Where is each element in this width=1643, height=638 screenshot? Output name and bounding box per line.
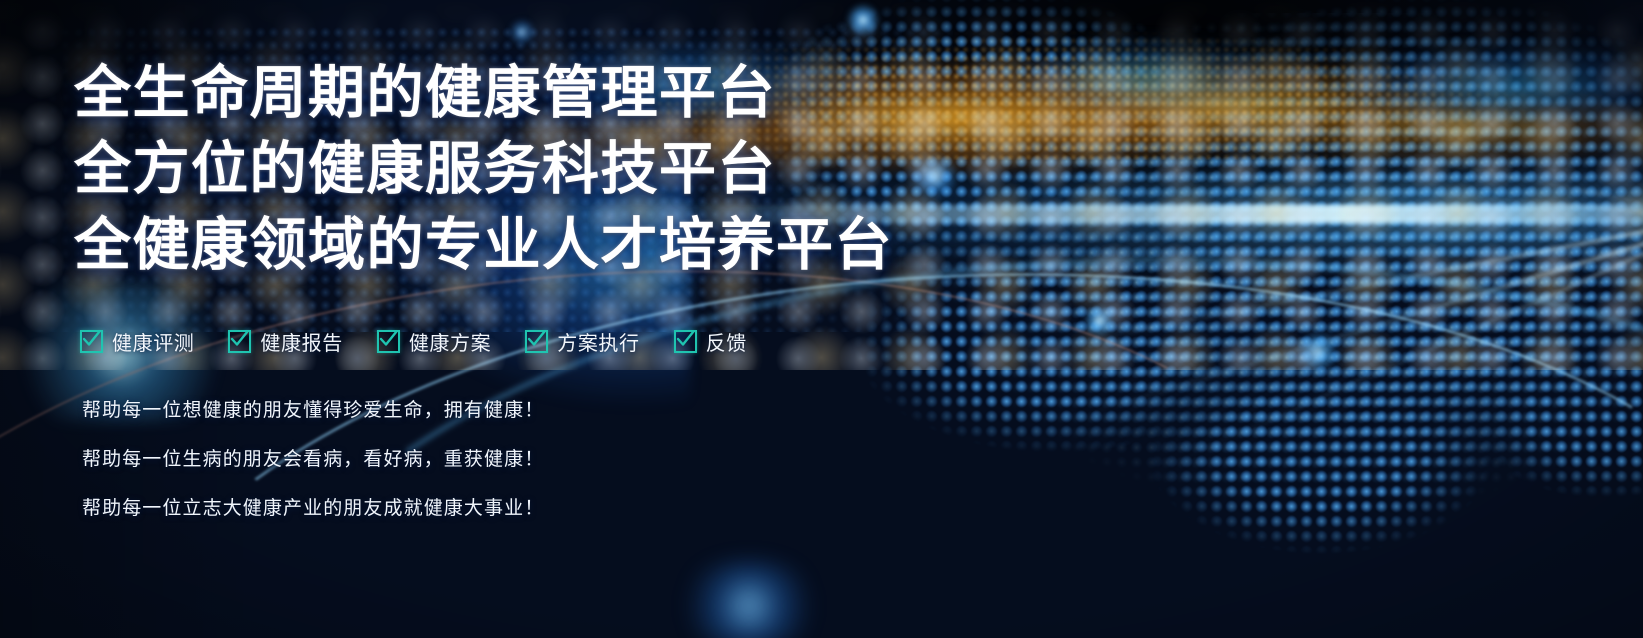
glow-dot xyxy=(1084,306,1114,336)
process-step-item[interactable]: 健康方案 xyxy=(377,327,491,356)
process-step-label: 方案执行 xyxy=(557,327,639,356)
page-title: 全生命周期的健康管理平台 全方位的健康服务科技平台 全健康领域的专业人才培养平台 xyxy=(74,56,974,283)
tagline-item: 帮助每一位立志大健康产业的朋友成就健康大事业！ xyxy=(82,499,974,518)
checkbox-checked-icon[interactable] xyxy=(525,330,548,353)
headline-line-3: 全健康领域的专业人才培养平台 xyxy=(74,208,974,284)
process-step-label: 反馈 xyxy=(706,327,747,356)
headline-line-1: 全生命周期的健康管理平台 xyxy=(74,56,974,132)
headline-line-2: 全方位的健康服务科技平台 xyxy=(74,132,974,208)
process-step-item[interactable]: 反馈 xyxy=(674,327,747,356)
glow-dot xyxy=(674,561,824,638)
process-step-label: 健康评测 xyxy=(112,327,194,356)
light-ray xyxy=(1180,238,1643,461)
checkbox-checked-icon[interactable] xyxy=(377,330,400,353)
process-step-item[interactable]: 方案执行 xyxy=(525,327,639,356)
light-ray xyxy=(1256,127,1643,210)
tagline-item: 帮助每一位想健康的朋友懂得珍爱生命，拥有健康！ xyxy=(82,401,974,420)
hero-content: 全生命周期的健康管理平台 全方位的健康服务科技平台 全健康领域的专业人才培养平台… xyxy=(0,0,974,518)
tagline-list: 帮助每一位想健康的朋友懂得珍爱生命，拥有健康！ 帮助每一位生病的朋友会看病，看好… xyxy=(82,401,974,518)
checkbox-checked-icon[interactable] xyxy=(674,330,697,353)
checkbox-checked-icon[interactable] xyxy=(80,330,103,353)
tagline-item: 帮助每一位生病的朋友会看病，看好病，重获健康！ xyxy=(82,450,974,469)
process-step-list: 健康评测 健康报告 健康方案 方案执行 xyxy=(80,327,974,356)
process-step-item[interactable]: 健康报告 xyxy=(228,327,342,356)
process-step-label: 健康方案 xyxy=(409,327,491,356)
light-ray xyxy=(998,224,1643,359)
process-step-label: 健康报告 xyxy=(260,327,342,356)
checkbox-checked-icon[interactable] xyxy=(228,330,251,353)
hero-banner: 全生命周期的健康管理平台 全方位的健康服务科技平台 全健康领域的专业人才培养平台… xyxy=(0,0,1643,638)
light-ray xyxy=(1185,171,1643,216)
process-step-item[interactable]: 健康评测 xyxy=(80,327,194,356)
